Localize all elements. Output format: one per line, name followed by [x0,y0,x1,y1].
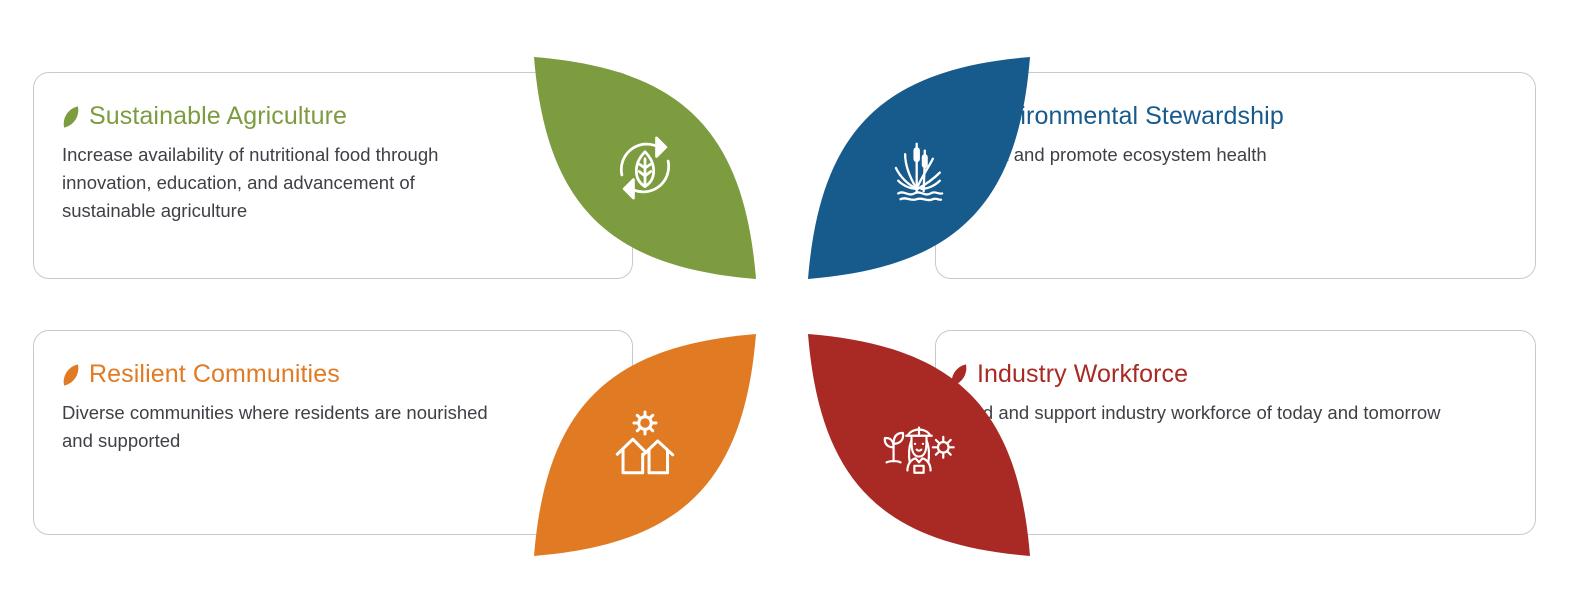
pillar-description-resilient-communities: Diverse communities where residents are … [62,399,512,455]
pillar-title-resilient-communities: Resilient Communities [62,361,512,389]
leaf-bullet-icon [60,106,81,127]
petal-industry-workforce [806,332,1032,558]
card-content: Resilient Communities Diverse communitie… [62,361,512,455]
pillars-infographic: Sustainable Agriculture Increase availab… [0,0,1571,591]
pillar-title-text: Sustainable Agriculture [89,103,347,131]
pillar-title-sustainable-agriculture: Sustainable Agriculture [62,103,512,131]
leaf-bullet-icon [60,364,81,385]
pillar-description-sustainable-agriculture: Increase availability of nutritional foo… [62,141,512,225]
petal-sustainable-agriculture [532,55,758,281]
petal-resilient-communities [532,332,758,558]
petal-environmental-stewardship [806,55,1032,281]
card-content: Sustainable Agriculture Increase availab… [62,103,512,225]
pillar-title-text: Resilient Communities [89,361,340,389]
